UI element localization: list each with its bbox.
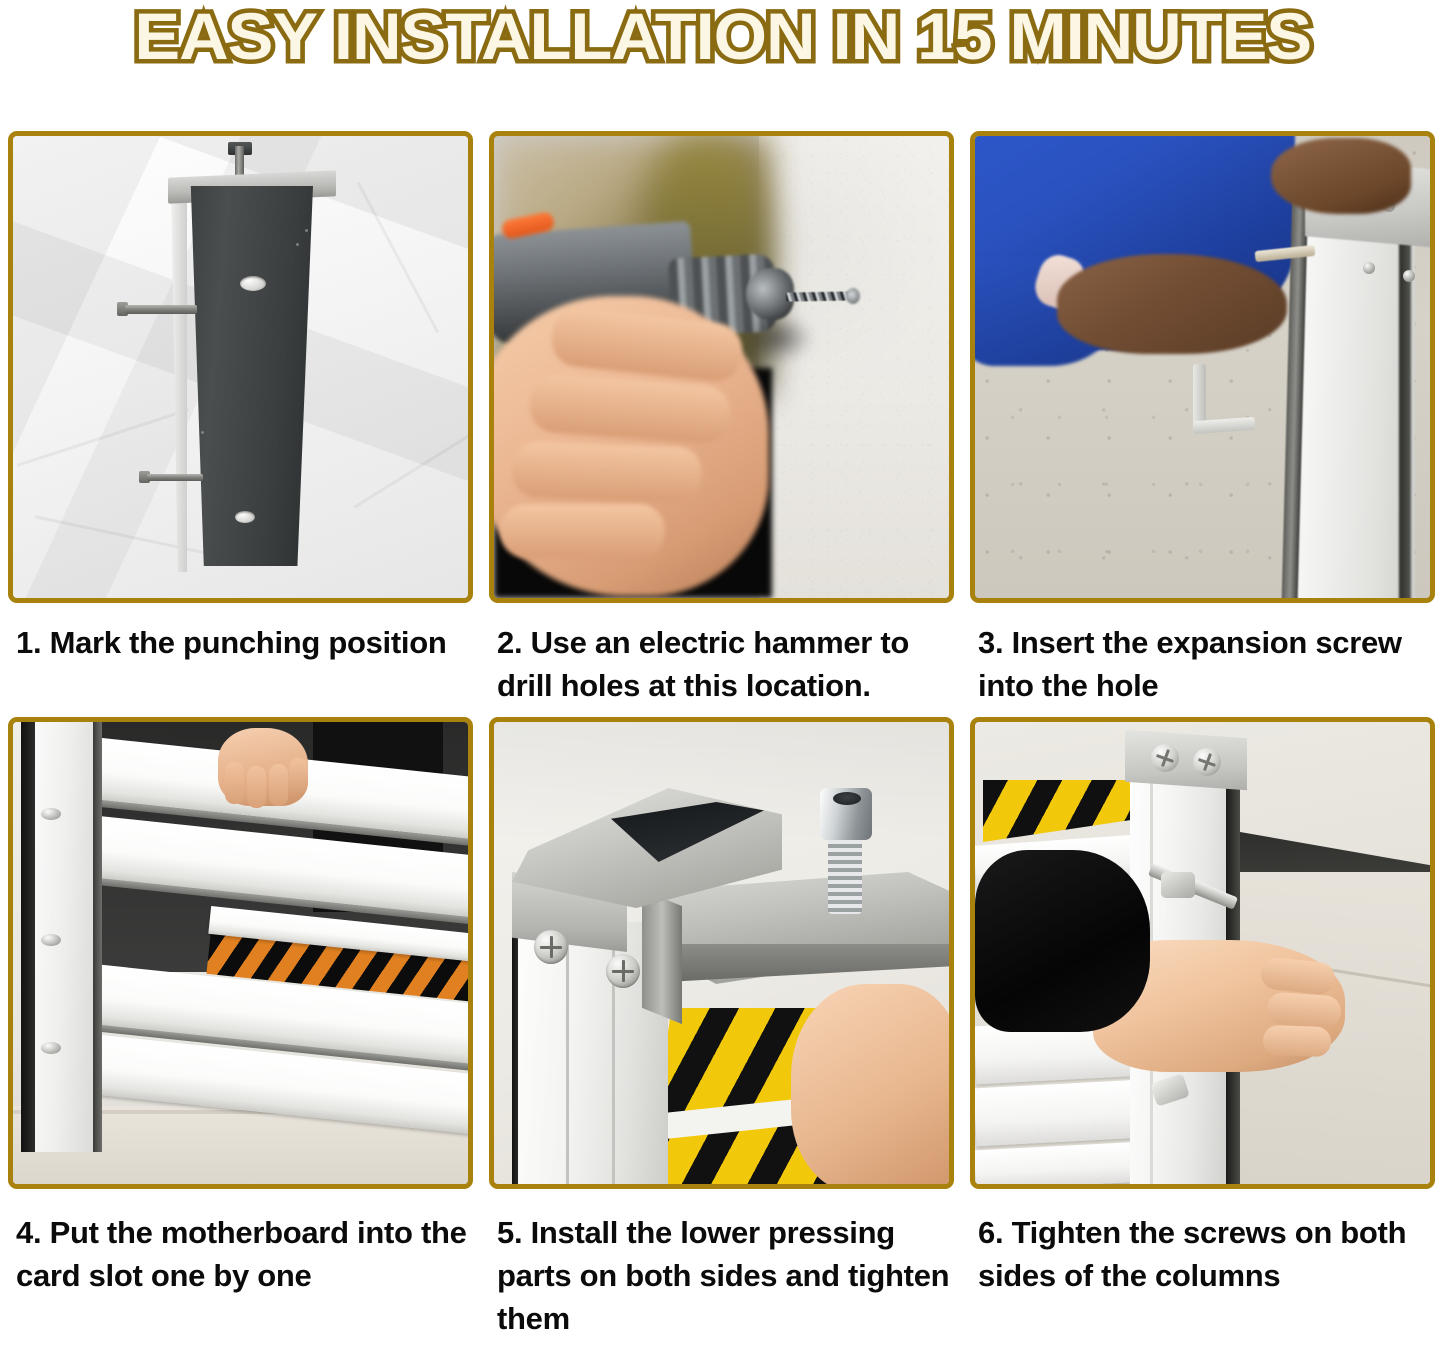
step-card-3: 3. Insert the expansion screw into the h… xyxy=(970,131,1435,707)
step-photo-3 xyxy=(970,131,1435,603)
wall-contact-shadow xyxy=(744,314,814,362)
finger xyxy=(1262,1025,1331,1057)
installer-hand xyxy=(791,984,949,1184)
surface-speck xyxy=(296,243,299,246)
expansion-bolt-lower xyxy=(147,474,203,481)
finger xyxy=(247,766,266,808)
post-right-shadow xyxy=(93,722,102,1152)
mounting-hole-lower xyxy=(235,511,255,523)
surface-speck xyxy=(305,229,308,232)
bracket-screw xyxy=(1403,270,1415,282)
barrier-board xyxy=(975,1080,1144,1147)
step-card-1: 1. Mark the punching position xyxy=(8,131,473,707)
step-caption-3: 3. Insert the expansion screw into the h… xyxy=(970,621,1435,707)
worker-upper-hand xyxy=(1271,138,1411,214)
finger xyxy=(511,441,703,504)
bracket-screw xyxy=(1363,262,1375,274)
step-card-4: 4. Put the motherboard into the card slo… xyxy=(8,717,473,1340)
step-caption-4: 4. Put the motherboard into the card slo… xyxy=(8,1211,473,1297)
worker-forearm xyxy=(1057,254,1287,354)
step-card-6: 6. Tighten the screws on both sides of t… xyxy=(970,717,1435,1340)
scene-mark-punching-position xyxy=(13,136,468,598)
step-caption-2: 2. Use an electric hammer to drill holes… xyxy=(489,621,954,707)
phillips-screw xyxy=(1151,744,1179,772)
steps-grid: 1. Mark the punching position xyxy=(8,131,1437,1340)
step-card-5: 5. Install the lower pressing parts on b… xyxy=(489,717,954,1340)
step-photo-1 xyxy=(8,131,473,603)
header-banner: EASY INSTALLATION IN 15 MINUTES xyxy=(0,0,1445,92)
step-photo-2 xyxy=(489,131,954,603)
post-screw xyxy=(41,934,61,946)
finger xyxy=(500,504,665,558)
scene-insert-boards xyxy=(13,722,468,1184)
scene-insert-expansion-screw xyxy=(975,136,1430,598)
drill-bit-tip xyxy=(846,288,860,304)
screwdriver-tip xyxy=(1161,872,1195,898)
step-photo-6 xyxy=(970,717,1435,1189)
post-left-shadow xyxy=(21,722,36,1152)
post-screw xyxy=(41,1042,61,1054)
post-groove xyxy=(566,922,569,1184)
scene-drill-holes xyxy=(494,136,949,598)
finger xyxy=(1266,991,1342,1028)
step-caption-5: 5. Install the lower pressing parts on b… xyxy=(489,1211,954,1340)
allen-key-icon xyxy=(1193,364,1261,432)
phillips-screw xyxy=(534,930,568,964)
finger xyxy=(269,764,288,806)
textured-wall xyxy=(759,136,949,598)
steps-row-top: 1. Mark the punching position xyxy=(8,131,1437,707)
phillips-screw xyxy=(1193,748,1221,776)
surface-speck xyxy=(201,431,204,434)
mounting-post xyxy=(183,186,313,566)
finger xyxy=(289,758,308,792)
finger xyxy=(225,762,244,804)
step-card-2: 2. Use an electric hammer to drill holes… xyxy=(489,131,954,707)
step-photo-5 xyxy=(489,717,954,1189)
step-caption-1: 1. Mark the punching position xyxy=(8,621,473,664)
bolt-socket-hole xyxy=(833,792,861,805)
mounting-hole-upper xyxy=(240,276,266,291)
masonry-drill-bit xyxy=(786,291,854,301)
column-shadow-edge xyxy=(1399,198,1411,598)
allen-key-shaft xyxy=(1193,364,1206,424)
step-caption-6: 6. Tighten the screws on both sides of t… xyxy=(970,1211,1435,1297)
phillips-screw xyxy=(606,954,640,988)
post-screw xyxy=(41,808,61,820)
column-top-bracket xyxy=(1125,730,1247,791)
scene-lower-pressing-parts xyxy=(494,722,949,1184)
black-sleeve xyxy=(975,850,1150,1032)
expansion-bolt-upper xyxy=(125,305,197,314)
steps-row-bottom: 4. Put the motherboard into the card slo… xyxy=(8,717,1437,1340)
scene-tighten-screws xyxy=(975,722,1430,1184)
step-photo-4 xyxy=(8,717,473,1189)
threaded-bolt-shaft xyxy=(828,832,862,914)
page-title: EASY INSTALLATION IN 15 MINUTES xyxy=(134,0,1311,72)
bracket-lip xyxy=(642,890,682,1024)
